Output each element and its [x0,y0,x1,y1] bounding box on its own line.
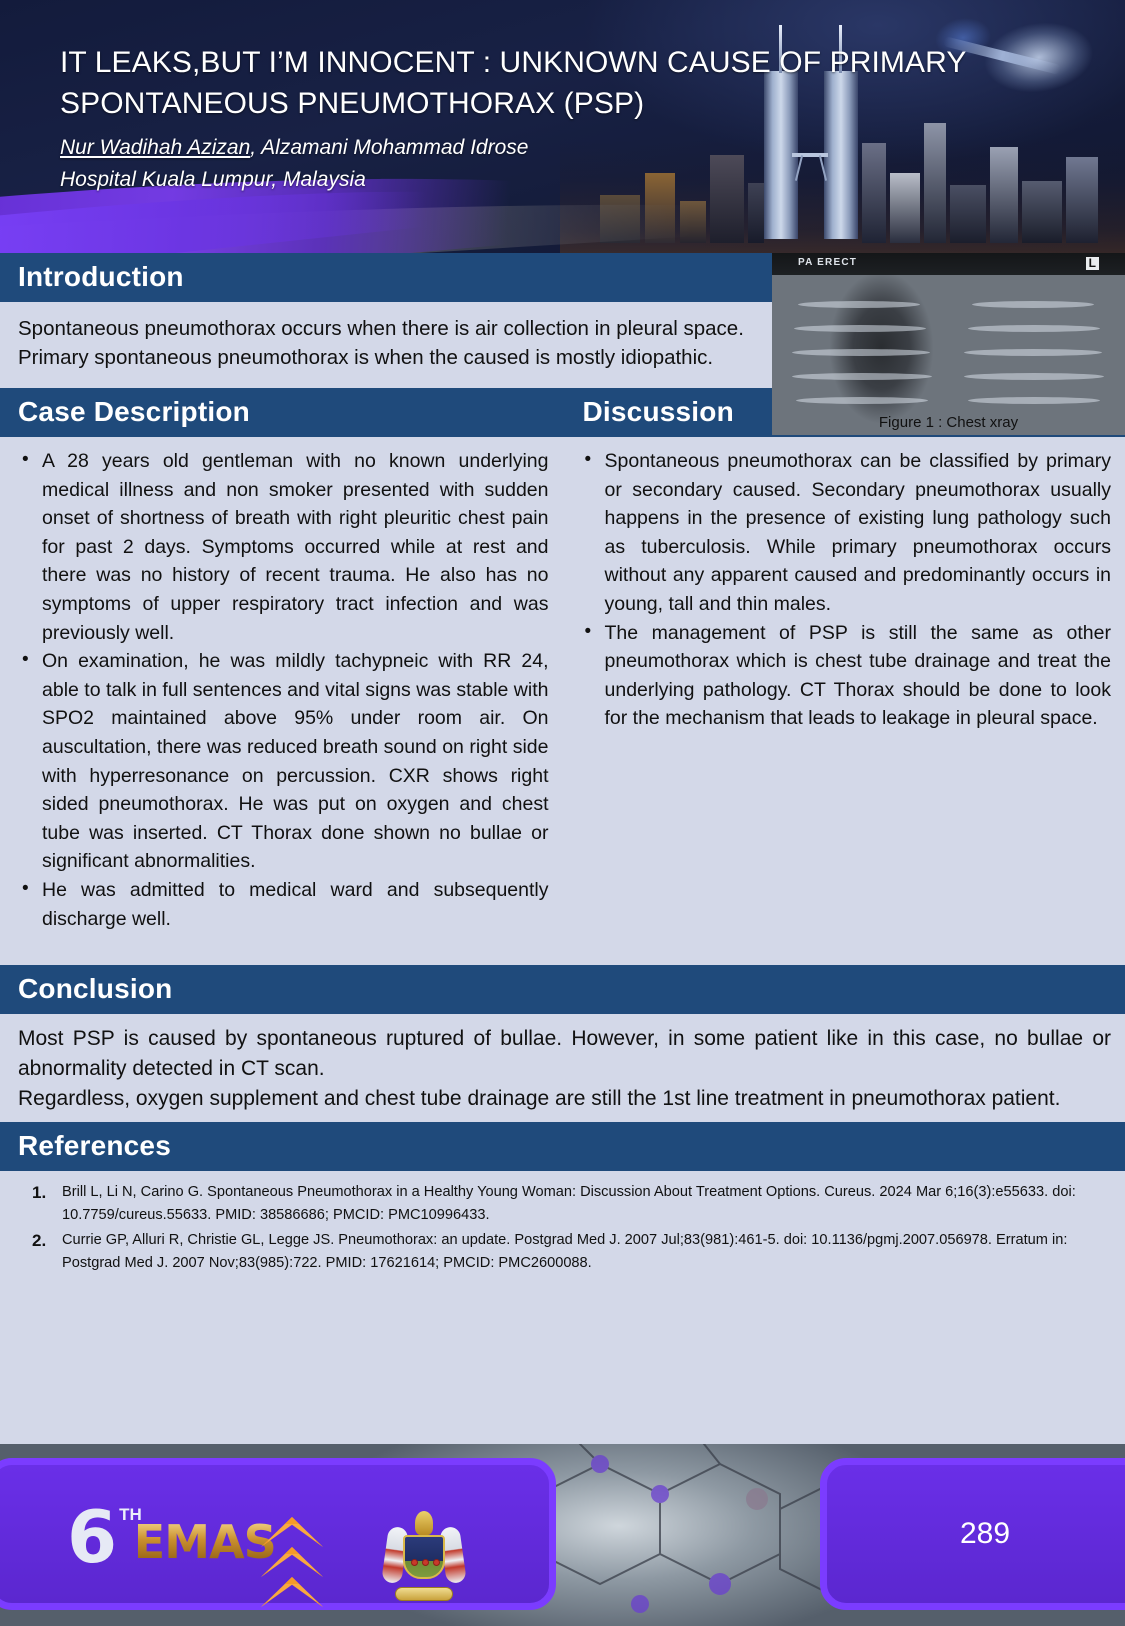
references-section: References Brill L, Li N, Carino G. Spon… [0,1122,1125,1285]
poster-footer: 6 TH EMAS 289 [0,1444,1125,1626]
xray-side-marker: L [1086,257,1099,270]
coauthor-list: , Alzamani Mohammad Idrose [250,136,528,159]
page-title: IT LEAKS,BUT I’M INNOCENT : UNKNOWN CAUS… [60,42,1040,124]
emas-logo: 6 TH EMAS [67,1505,282,1569]
section-spacer [0,943,1125,965]
list-item: Currie GP, Alluri R, Christie GL, Legge … [18,1229,1099,1275]
case-description-heading: Case Description [0,388,563,437]
poster-header: IT LEAKS,BUT I’M INNOCENT : UNKNOWN CAUS… [0,0,1125,253]
page-number: 289 [827,1517,1125,1551]
author-line: Nur Wadihah Azizan, Alzamani Mohammad Id… [60,132,1040,164]
list-item: The management of PSP is still the same … [577,619,1112,733]
list-item: On examination, he was mildly tachypneic… [14,647,549,876]
chest-xray-figure: PA ERECT L Figure 1 : Chest xray [772,253,1125,435]
emas-edition-number: 6 [67,1505,117,1569]
rib-overlay [772,253,1125,435]
coat-of-arms-icon [381,1507,467,1611]
main-two-column: Case Description A 28 years old gentlema… [0,388,1125,943]
city-building [1066,157,1098,243]
list-item: A 28 years old gentleman with no known u… [14,447,549,647]
lead-author: Nur Wadihah Azizan [60,136,250,159]
sponsor-logo-bar: 6 TH EMAS [0,1458,556,1610]
references-body: Brill L, Li N, Carino G. Spontaneous Pne… [0,1171,1125,1285]
discussion-list: Spontaneous pneumothorax can be classifi… [577,447,1112,733]
affiliation: Hospital Kuala Lumpur, Malaysia [60,164,1040,196]
list-item: He was admitted to medical ward and subs… [14,876,549,933]
conclusion-body: Most PSP is caused by spontaneous ruptur… [0,1014,1125,1122]
case-description-list: A 28 years old gentleman with no known u… [14,447,549,933]
list-item: Brill L, Li N, Carino G. Spontaneous Pne… [18,1181,1099,1227]
case-description-section: Case Description A 28 years old gentlema… [0,388,563,943]
references-heading: References [0,1122,1125,1171]
introduction-body: Spontaneous pneumothorax occurs when the… [0,302,772,388]
chevron-logo-icon [261,1517,323,1603]
poster-page: IT LEAKS,BUT I’M INNOCENT : UNKNOWN CAUS… [0,0,1125,1626]
xray-view-label: PA ERECT [798,257,857,268]
case-description-body: A 28 years old gentleman with no known u… [0,437,563,943]
discussion-body: Spontaneous pneumothorax can be classifi… [563,437,1125,743]
introduction-section: Introduction Spontaneous pneumothorax oc… [0,253,1125,388]
emas-wordmark: EMAS [134,1519,276,1565]
introduction-heading: Introduction [0,253,772,302]
discussion-section: Discussion Spontaneous pneumothorax can … [563,388,1125,943]
conclusion-paragraph: Most PSP is caused by spontaneous ruptur… [18,1024,1111,1084]
conclusion-section: Conclusion Most PSP is caused by spontan… [0,965,1125,1122]
page-number-badge: 289 [820,1458,1125,1610]
figure-caption: Figure 1 : Chest xray [772,414,1125,431]
references-list: Brill L, Li N, Carino G. Spontaneous Pne… [18,1181,1099,1275]
list-item: Spontaneous pneumothorax can be classifi… [577,447,1112,619]
conclusion-heading: Conclusion [0,965,1125,1014]
conclusion-paragraph: Regardless, oxygen supplement and chest … [18,1084,1111,1114]
header-text-block: IT LEAKS,BUT I’M INNOCENT : UNKNOWN CAUS… [60,42,1040,196]
